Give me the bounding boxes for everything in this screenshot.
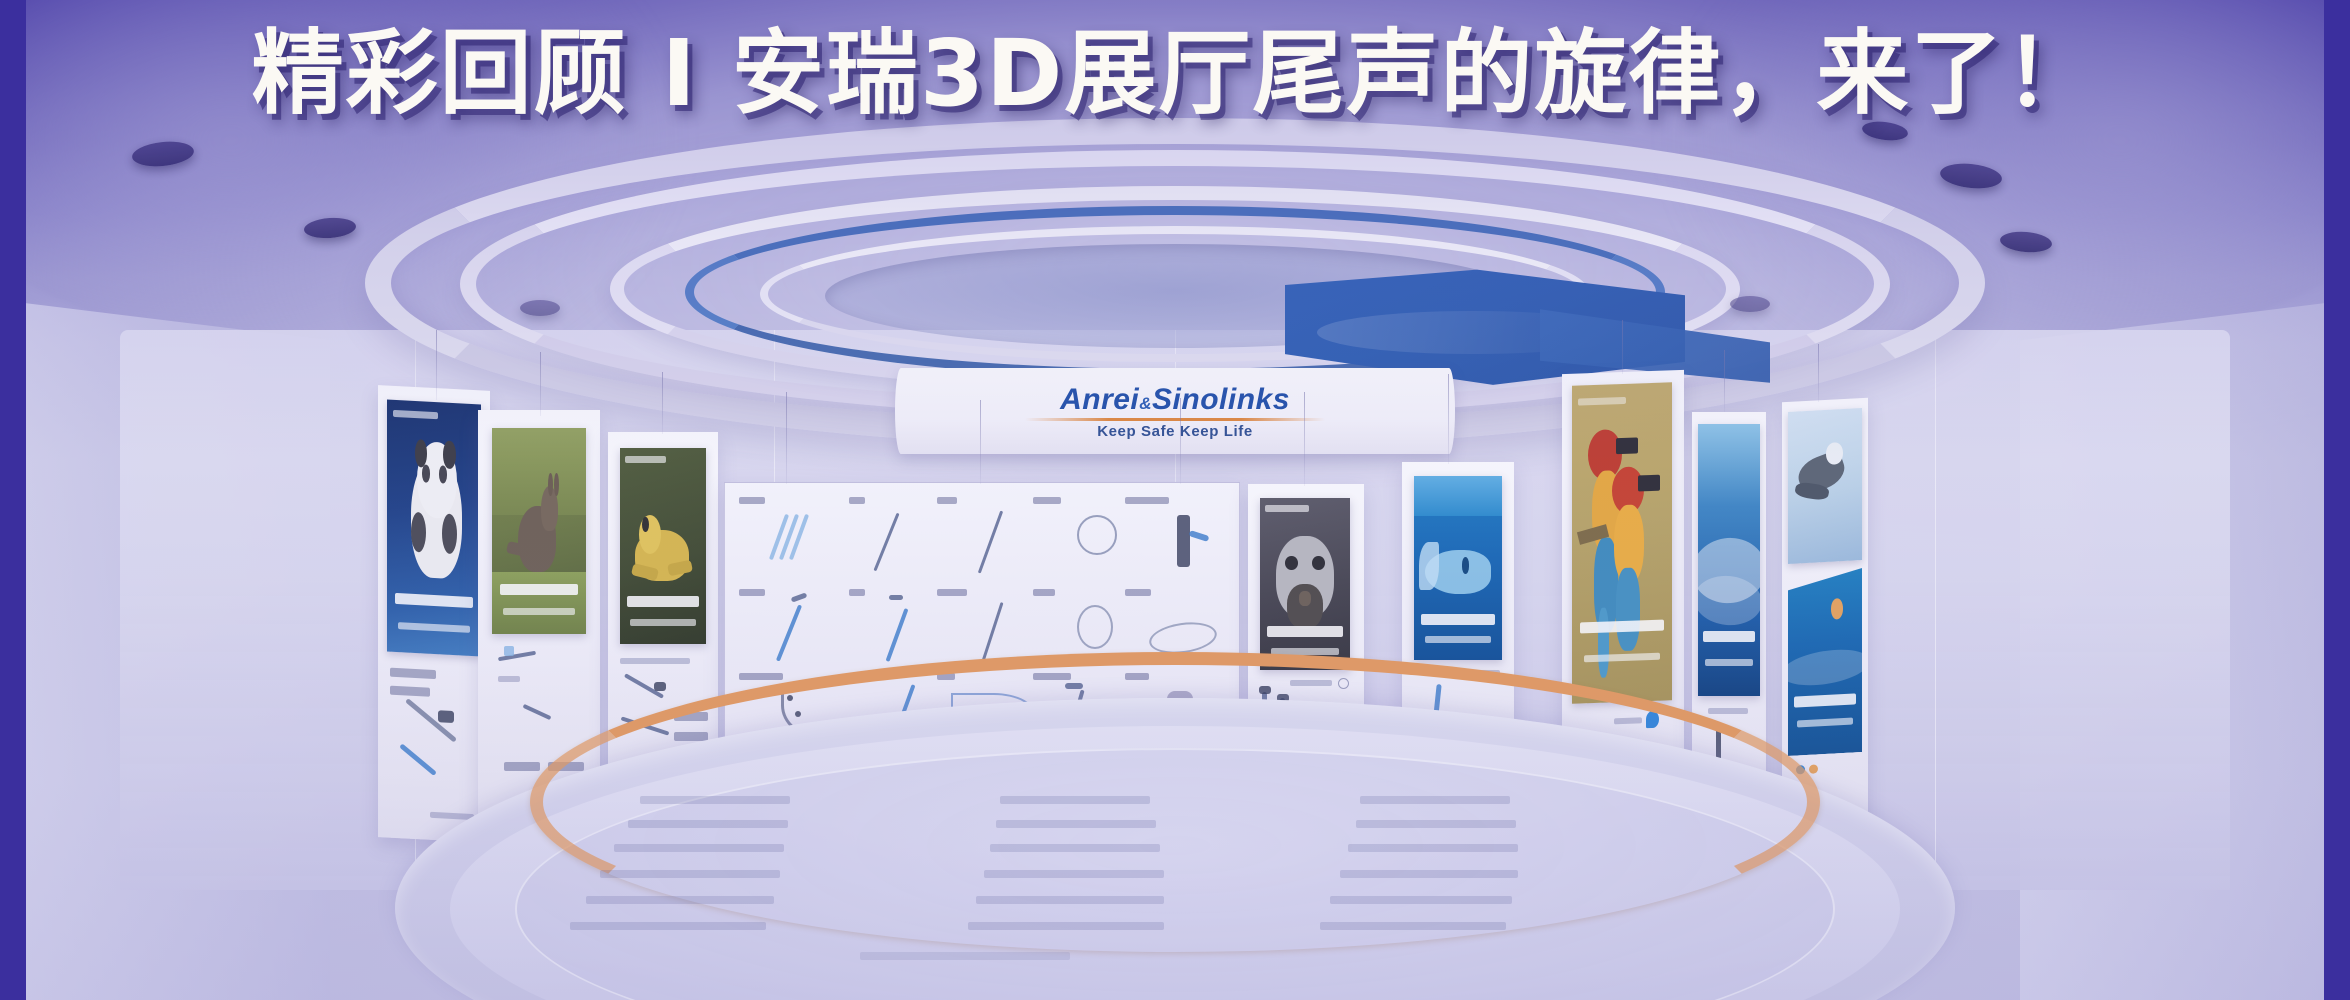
poster-frog: [620, 448, 706, 644]
product-silhouette: [654, 682, 666, 691]
poster-kangaroo: [492, 428, 586, 634]
brand-tagline: Keep Safe Keep Life: [1097, 423, 1253, 440]
brand-underline: [1025, 418, 1325, 421]
product-silhouette: [399, 743, 437, 776]
hall-scene: Anrei&Sinolinks Keep Safe Keep Life: [0, 0, 2350, 1000]
frame-border-right: [2324, 0, 2350, 1000]
poster-deepsea: [1788, 568, 1862, 756]
product-silhouette: [504, 646, 514, 656]
poster-eagle: [1788, 408, 1862, 564]
brand-name-secondary: Sinolinks: [1152, 383, 1290, 416]
product-silhouette: [438, 710, 454, 723]
exhibition-hall-banner: Anrei&Sinolinks Keep Safe Keep Life: [0, 0, 2350, 1000]
poster-whale: [1414, 476, 1502, 660]
product-silhouette: [523, 704, 552, 720]
poster-honeybadger: [1260, 498, 1350, 670]
poster-ocean: [1698, 424, 1760, 696]
ceiling-spot-light: [520, 300, 560, 316]
poster-panda: [387, 400, 481, 657]
page-title: 精彩回顾 I 安瑞3D展厅尾声的旋律，来了！: [0, 26, 2350, 123]
exhibit-panel-panda[interactable]: [378, 385, 490, 843]
poster-beeeater: [1572, 382, 1672, 703]
brand-banner: Anrei&Sinolinks Keep Safe Keep Life: [895, 368, 1455, 454]
ceiling-spot-light: [1730, 296, 1770, 312]
brand-name-amp: &: [1139, 394, 1152, 413]
brand-name: Anrei&Sinolinks: [1060, 383, 1290, 417]
frame-border-left: [0, 0, 26, 1000]
brand-name-primary: Anrei: [1060, 383, 1139, 416]
